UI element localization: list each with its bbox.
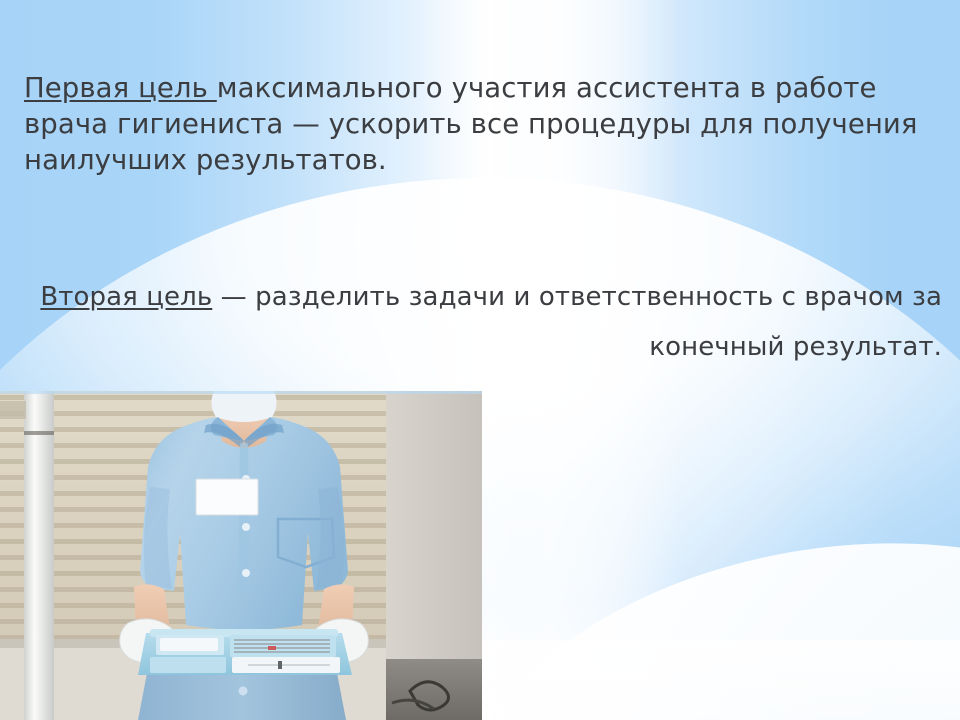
paragraph-first-goal: Первая цель максимального участия ассист… [24, 70, 936, 178]
second-goal-lead: Вторая цель [40, 282, 212, 312]
dental-assistant-photo [0, 391, 482, 720]
second-goal-body: — разделить задачи и ответственность с в… [212, 282, 942, 362]
background-swoosh-fade [455, 640, 960, 720]
background-swoosh-arc [423, 491, 960, 720]
first-goal-lead: Первая цель [24, 72, 217, 104]
paragraph-second-goal: Вторая цель — разделить задачи и ответст… [24, 272, 942, 372]
presentation-slide: Первая цель максимального участия ассист… [0, 0, 960, 720]
dental-assistant-illustration [0, 391, 482, 720]
